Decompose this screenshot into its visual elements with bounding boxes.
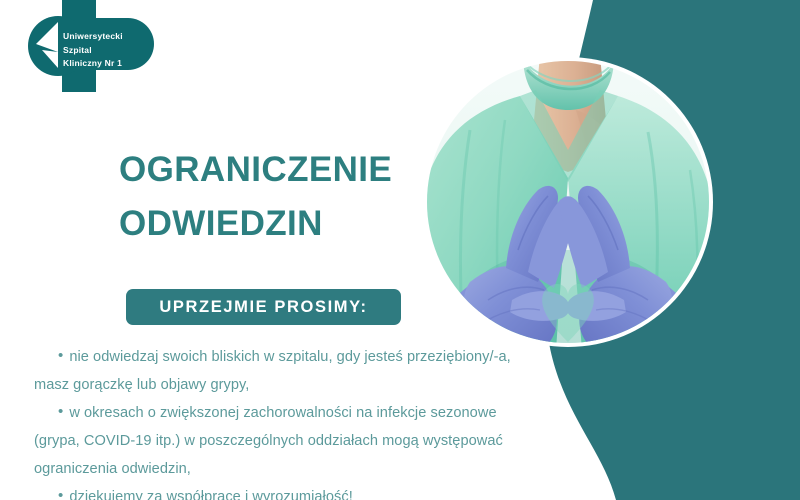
list-item-text: ograniczenia odwiedzin, <box>34 461 191 477</box>
poster-canvas: Uniwersytecki Szpital Kliniczny Nr 1 OGR… <box>0 0 800 500</box>
list-item-text: masz gorączkę lub objawy grypy, <box>34 377 249 393</box>
headline-line-2: ODWIEDZIN <box>119 197 449 251</box>
bullet-icon: • <box>58 488 63 500</box>
list-item: •w okresach o zwiększonej zachorowalnośc… <box>34 399 546 427</box>
list-item: (grypa, COVID-19 itp.) w poszczególnych … <box>34 427 546 455</box>
logo-line-3: Kliniczny Nr 1 <box>63 57 123 71</box>
list-item: •dziękujemy za współpracę i wyrozumiałoś… <box>34 483 546 500</box>
list-item-text: w okresach o zwiększonej zachorowalności… <box>69 405 496 421</box>
list-item-text: nie odwiedzaj swoich bliskich w szpitalu… <box>69 349 510 365</box>
page-title: OGRANICZENIE ODWIEDZIN <box>119 143 449 251</box>
logo-line-2: Szpital <box>63 44 123 58</box>
guidelines-list: •nie odwiedzaj swoich bliskich w szpital… <box>34 343 546 500</box>
list-item: •nie odwiedzaj swoich bliskich w szpital… <box>34 343 546 371</box>
bullet-icon: • <box>58 348 63 363</box>
hospital-logo: Uniwersytecki Szpital Kliniczny Nr 1 <box>6 0 166 92</box>
logo-line-1: Uniwersytecki <box>63 30 123 44</box>
request-badge-label: UPRZEJMIE PROSIMY: <box>159 298 367 317</box>
headline-line-1: OGRANICZENIE <box>119 143 449 197</box>
list-item: masz gorączkę lub objawy grypy, <box>34 371 546 399</box>
bullet-icon: • <box>58 404 63 419</box>
request-badge: UPRZEJMIE PROSIMY: <box>126 289 401 325</box>
list-item-text: (grypa, COVID-19 itp.) w poszczególnych … <box>34 433 503 449</box>
list-item-text: dziękujemy za współpracę i wyrozumiałość… <box>69 489 353 500</box>
list-item: ograniczenia odwiedzin, <box>34 455 546 483</box>
hospital-logo-text: Uniwersytecki Szpital Kliniczny Nr 1 <box>63 30 123 71</box>
